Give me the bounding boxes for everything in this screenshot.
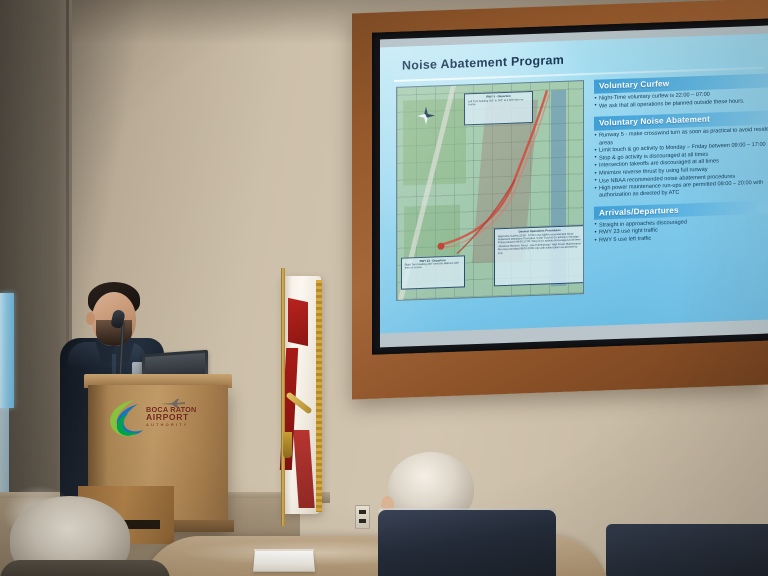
presenter-ear <box>86 312 95 325</box>
flag-tassel <box>283 432 292 458</box>
slide-text-column: Voluntary Curfew Night-Time voluntary cu… <box>594 73 768 320</box>
noise-abatement-map: RWY 5 - Departure Left Turn heading 050°… <box>396 80 584 301</box>
slide-title: Noise Abatement Program <box>402 53 564 73</box>
screen-surface: Noise Abatement Program <box>380 25 768 347</box>
flag-red-stripe-upper <box>288 298 308 346</box>
logo-line-3: AUTHORITY <box>146 421 218 429</box>
logo-line-2: AIRPORT <box>146 414 218 422</box>
bullet-list-arrivals-departures: Straight in approaches discouraged RWY 2… <box>594 216 768 245</box>
wall-outlet[interactable] <box>355 505 370 529</box>
conference-room-scene: Noise Abatement Program <box>0 0 768 576</box>
flag-pole <box>281 268 285 526</box>
window-edge <box>0 293 14 408</box>
presentation-slide: Noise Abatement Program <box>380 33 768 333</box>
projection-screen-frame: Noise Abatement Program <box>352 0 768 399</box>
outlet-slot-lower <box>359 519 366 523</box>
audience-member-shoulders-left <box>0 560 170 576</box>
swoosh-logo-icon <box>104 398 150 442</box>
logo-text-block: BOCA RATON AIRPORT AUTHORITY <box>146 406 218 429</box>
name-card <box>253 551 315 572</box>
map-callout-rwy23: RWY 23 - Departure Right Turn heading 23… <box>401 255 465 289</box>
map-callout-general-procedures: General Operations Procedures Night-time… <box>494 225 584 286</box>
boca-raton-airport-authority-logo: BOCA RATON AIRPORT AUTHORITY <box>104 396 216 444</box>
conference-chair-right[interactable] <box>606 524 768 576</box>
flag-gold-fringe <box>316 280 322 512</box>
conference-chair-center[interactable] <box>378 510 556 576</box>
map-callout-rwy5: RWY 5 - Departure Left Turn heading 050°… <box>464 91 533 125</box>
bullet-list-voluntary-noise-abatement: Runway 5 - make crosswind turn as soon a… <box>594 126 768 200</box>
outlet-slot-upper <box>359 510 366 514</box>
name-card-fold <box>254 549 314 551</box>
screen-bezel: Noise Abatement Program <box>372 18 768 354</box>
